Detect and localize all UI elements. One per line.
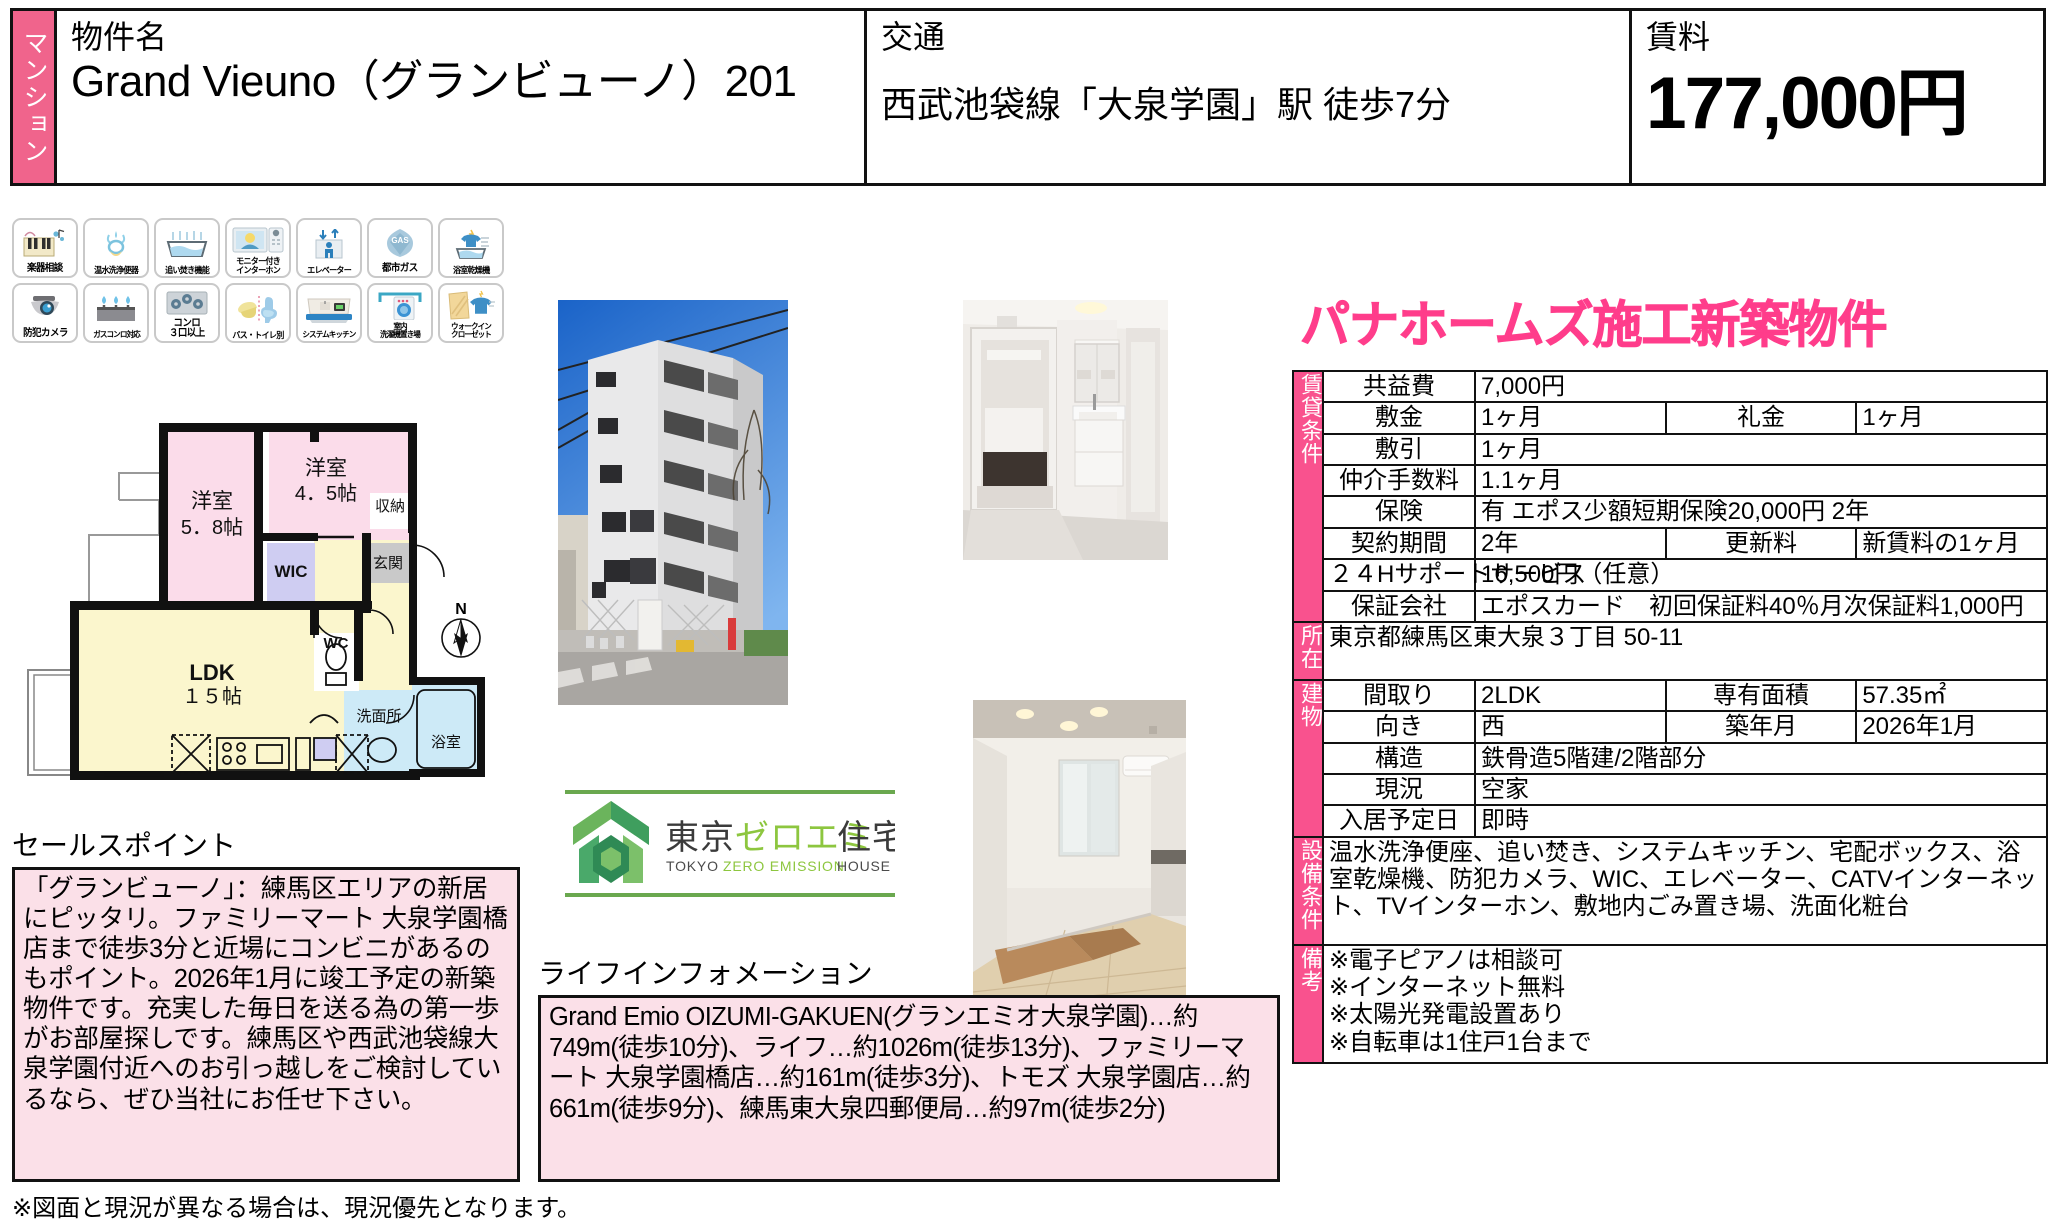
location-value: 東京都練馬区東大泉３丁目 50-11: [1323, 622, 2047, 680]
detail-value: 2026年1月: [1856, 711, 2047, 742]
svg-text:洋室: 洋室: [305, 457, 347, 480]
table-row: 現況空家: [1293, 774, 2047, 805]
table-row: 設備条件温水洗浄便座、追い焚き、システムキッチン、宅配ボックス、浴室乾燥機、防犯…: [1293, 837, 2047, 945]
detail-value: 即時: [1475, 805, 2047, 836]
facility-icon-label: バス・トイレ別: [232, 331, 283, 340]
section-label-rental-text: 賃貸条件: [1299, 373, 1321, 465]
facility-icon-label: 室内 洗濯機置き場: [380, 323, 420, 339]
facility-icon-washlet: 温水洗浄便器: [83, 218, 149, 278]
detail-key: 更新料: [1666, 528, 1857, 559]
table-row: 保証会社エポスカード 初回保証料40％月次保証料1,000円: [1293, 591, 2047, 622]
table-row: 敷引1ヶ月: [1293, 434, 2047, 465]
facility-icon-reheat-bath: 追い焚き機能: [154, 218, 220, 278]
detail-value: 57.35㎡: [1856, 680, 2047, 711]
property-detail-table: 賃貸条件共益費7,000円敷金1ヶ月礼金1ヶ月敷引1ヶ月仲介手数料1.1ヶ月保険…: [1292, 370, 2048, 1064]
svg-text:洋室: 洋室: [191, 490, 233, 513]
detail-key: 敷金: [1323, 402, 1475, 433]
detail-value: 1ヶ月: [1475, 434, 2047, 465]
table-row: 構造鉄骨造5階建/2階部分: [1293, 743, 2047, 774]
detail-value: 2年: [1475, 528, 1666, 559]
system-kitchen-icon: [299, 287, 359, 331]
svg-text:WC: WC: [324, 635, 349, 652]
table-row: 敷金1ヶ月礼金1ヶ月: [1293, 402, 2047, 433]
svg-text:WIC: WIC: [274, 562, 307, 581]
detail-key: ２４Hサポートサービス: [1323, 559, 1475, 590]
property-header: マンション 物件名 Grand Vieuno（グランビューノ）201 交通 西武…: [10, 8, 2046, 186]
section-label-building: 建物: [1293, 680, 1323, 837]
table-row: 向き西築年月2026年1月: [1293, 711, 2047, 742]
svg-text:１５帖: １５帖: [182, 685, 242, 708]
facility-icon-label: 温水洗浄便器: [94, 266, 138, 275]
svg-text:東京: 東京: [665, 819, 735, 857]
table-row: 保険有 エポス少額短期保険20,000円 2年: [1293, 496, 2047, 527]
detail-value: エポスカード 初回保証料40％月次保証料1,000円: [1475, 591, 2047, 622]
detail-value: 7,000円: [1475, 371, 2047, 402]
disclaimer-note: ※図面と現況が異なる場合は、現況優先となります。: [12, 1188, 581, 1223]
tokyo-zero-emission-house-logo: 東京 ゼロエミ 住宅 TOKYO ZERO EMISSION HOUSE: [565, 787, 895, 897]
facility-icon-walk-in-closet: ウォークイン クローゼット: [438, 283, 504, 343]
detail-value: 西: [1475, 711, 1666, 742]
section-label-remarks-text: 備考: [1299, 947, 1321, 993]
detail-value: 空家: [1475, 774, 2047, 805]
svg-text:5．8帖: 5．8帖: [181, 516, 243, 539]
table-row: 賃貸条件共益費7,000円: [1293, 371, 2047, 402]
rent-label: 賃料: [1646, 17, 2029, 57]
detail-value: 1ヶ月: [1475, 402, 1666, 433]
table-row: 入居予定日即時: [1293, 805, 2047, 836]
facility-icon-label: 追い焚き機能: [165, 266, 209, 275]
svg-text:4．5帖: 4．5帖: [295, 482, 357, 505]
detail-value: 2LDK: [1475, 680, 1666, 711]
detail-value: 有 エポス少額短期保険20,000円 2年: [1475, 496, 2047, 527]
facility-icon-label: ウォークイン クローゼット: [451, 323, 491, 339]
facility-icon-instrument: 楽器相談: [12, 218, 78, 278]
detail-value: 鉄骨造5階建/2階部分: [1475, 743, 2047, 774]
facility-icon-label: 都市ガス: [382, 264, 418, 274]
table-row: 建物間取り2LDK専有面積57.35㎡: [1293, 680, 2047, 711]
detail-value: 1.1ヶ月: [1475, 465, 2047, 496]
detail-value: 16,500円（任意）: [1475, 559, 2047, 590]
detail-key: 敷引: [1323, 434, 1475, 465]
monitor-intercom-icon: [228, 222, 288, 257]
table-row: 仲介手数料1.1ヶ月: [1293, 465, 2047, 496]
svg-text:浴室: 浴室: [431, 734, 461, 751]
svg-text:収納: 収納: [375, 498, 405, 515]
life-information-body: Grand Emio OIZUMI-GAKUEN(グランエミオ大泉学園)…約74…: [538, 995, 1280, 1182]
svg-text:HOUSE: HOUSE: [837, 858, 891, 874]
detail-key: 間取り: [1323, 680, 1475, 711]
svg-text:LDK: LDK: [189, 660, 234, 685]
promo-banner: パナホームズ施工新築物件: [1300, 300, 2056, 350]
detail-key: 礼金: [1666, 402, 1857, 433]
svg-text:玄関: 玄関: [373, 555, 403, 572]
transport-value: 西武池袋線「大泉学園」駅 徒歩7分: [881, 83, 1615, 126]
walk-in-closet-icon: [441, 287, 501, 323]
table-row: 所在東京都練馬区東大泉３丁目 50-11: [1293, 622, 2047, 680]
detail-key: 仲介手数料: [1323, 465, 1475, 496]
property-type-label: マンション: [21, 30, 46, 165]
detail-key: 向き: [1323, 711, 1475, 742]
property-type-tag: マンション: [13, 11, 57, 183]
facility-icon-label: ガスコンロ対応: [93, 331, 140, 339]
indoor-laundry-icon: [370, 287, 430, 323]
detail-key: 構造: [1323, 743, 1475, 774]
property-name-label: 物件名: [71, 17, 850, 57]
facility-icon-label: モニター付き インターホン: [236, 257, 280, 274]
section-label-equipment: 設備条件: [1293, 837, 1323, 945]
detail-key: 保険: [1323, 496, 1475, 527]
detail-key: 専有面積: [1666, 680, 1857, 711]
table-row: ２４Hサポートサービス16,500円（任意）: [1293, 559, 2047, 590]
facility-icon-label: 防犯カメラ: [23, 329, 68, 339]
table-row: 契約期間2年更新料新賃料の1ヶ月: [1293, 528, 2047, 559]
living-room-photo: [973, 700, 1186, 1040]
life-information-title: ライフインフォメーション: [538, 960, 873, 988]
section-label-building-text: 建物: [1299, 682, 1321, 728]
svg-text:TOKYO: TOKYO: [666, 858, 719, 874]
city-gas-icon: GAS: [370, 222, 430, 264]
rent-value: 177,000円: [1646, 67, 2029, 140]
facility-icon-label: エレベーター: [307, 266, 351, 275]
svg-text:ZERO EMISSION: ZERO EMISSION: [723, 858, 845, 874]
sales-point-title: セールスポイント: [12, 832, 236, 860]
detail-key: 築年月: [1666, 711, 1857, 742]
instrument-icon: [15, 222, 75, 264]
washroom-photo: [963, 300, 1168, 560]
facility-icon-label: 楽器相談: [27, 264, 63, 274]
detail-key: 入居予定日: [1323, 805, 1475, 836]
facility-icon-system-kitchen: システムキッチン: [296, 283, 362, 343]
facility-icon-three-burner: コンロ ３口以上: [154, 283, 220, 343]
section-label-location: 所在: [1293, 622, 1323, 680]
reheat-bath-icon: [157, 222, 217, 266]
detail-key: 保証会社: [1323, 591, 1475, 622]
property-name-cell: 物件名 Grand Vieuno（グランビューノ）201: [57, 11, 867, 183]
facility-icon-monitor-intercom: モニター付き インターホン: [225, 218, 291, 278]
facility-icon-indoor-laundry: 室内 洗濯機置き場: [367, 283, 433, 343]
section-label-location-text: 所在: [1299, 624, 1321, 670]
facility-icon-city-gas: GAS都市ガス: [367, 218, 433, 278]
elevator-icon: [299, 222, 359, 266]
washlet-icon: [86, 222, 146, 266]
three-burner-icon: [157, 287, 217, 319]
facility-icon-security-camera: 防犯カメラ: [12, 283, 78, 343]
section-label-rental: 賃貸条件: [1293, 371, 1323, 622]
svg-text:住宅: 住宅: [837, 819, 895, 857]
detail-value: 1ヶ月: [1856, 402, 2047, 433]
transport-cell: 交通 西武池袋線「大泉学園」駅 徒歩7分: [867, 11, 1632, 183]
facility-icon-label: 浴室乾燥機: [453, 266, 490, 275]
section-label-equipment-text: 設備条件: [1299, 839, 1321, 931]
svg-text:GAS: GAS: [391, 236, 409, 245]
facility-icon-label: コンロ ３口以上: [169, 319, 205, 339]
rent-cell: 賃料 177,000円: [1632, 11, 2043, 183]
property-name-value: Grand Vieuno（グランビューノ）201: [71, 59, 850, 104]
facility-icon-label: システムキッチン: [303, 331, 356, 339]
facility-icon-gas-stove: ガスコンロ対応: [83, 283, 149, 343]
transport-label: 交通: [881, 17, 1615, 57]
gas-stove-icon: [86, 287, 146, 331]
bath-dryer-icon: [441, 222, 501, 266]
separate-bath-toilet-icon: [228, 287, 288, 331]
detail-value: 新賃料の1ヶ月: [1856, 528, 2047, 559]
facility-icon-elevator: エレベーター: [296, 218, 362, 278]
section-label-remarks: 備考: [1293, 945, 1323, 1063]
facility-icon-grid: 楽器相談温水洗浄便器追い焚き機能モニター付き インターホンエレベーターGAS都市…: [12, 218, 504, 343]
facility-icon-bath-dryer: 浴室乾燥機: [438, 218, 504, 278]
svg-text:N: N: [455, 601, 467, 618]
detail-key: 契約期間: [1323, 528, 1475, 559]
detail-key: 共益費: [1323, 371, 1475, 402]
detail-key: 現況: [1323, 774, 1475, 805]
facility-icon-separate-bath-toilet: バス・トイレ別: [225, 283, 291, 343]
sales-point-body: 「グランビューノ」：練馬区エリアの新居にピッタリ。ファミリーマート 大泉学園橋店…: [12, 867, 520, 1182]
table-row: 備考※電子ピアノは相談可 ※インターネット無料 ※太陽光発電設置あり ※自転車は…: [1293, 945, 2047, 1063]
floorplan: N 洋室 5．8帖 洋室 4．5帖 LDK １５帖 WIC 収納 玄関 WC 洗…: [14, 405, 514, 805]
remarks-value: ※電子ピアノは相談可 ※インターネット無料 ※太陽光発電設置あり ※自転車は1住…: [1323, 945, 2047, 1063]
svg-text:洗面所: 洗面所: [356, 708, 401, 725]
equipment-value: 温水洗浄便座、追い焚き、システムキッチン、宅配ボックス、浴室乾燥機、防犯カメラ、…: [1323, 837, 2047, 945]
exterior-photo: [558, 300, 788, 705]
security-camera-icon: [15, 287, 75, 329]
